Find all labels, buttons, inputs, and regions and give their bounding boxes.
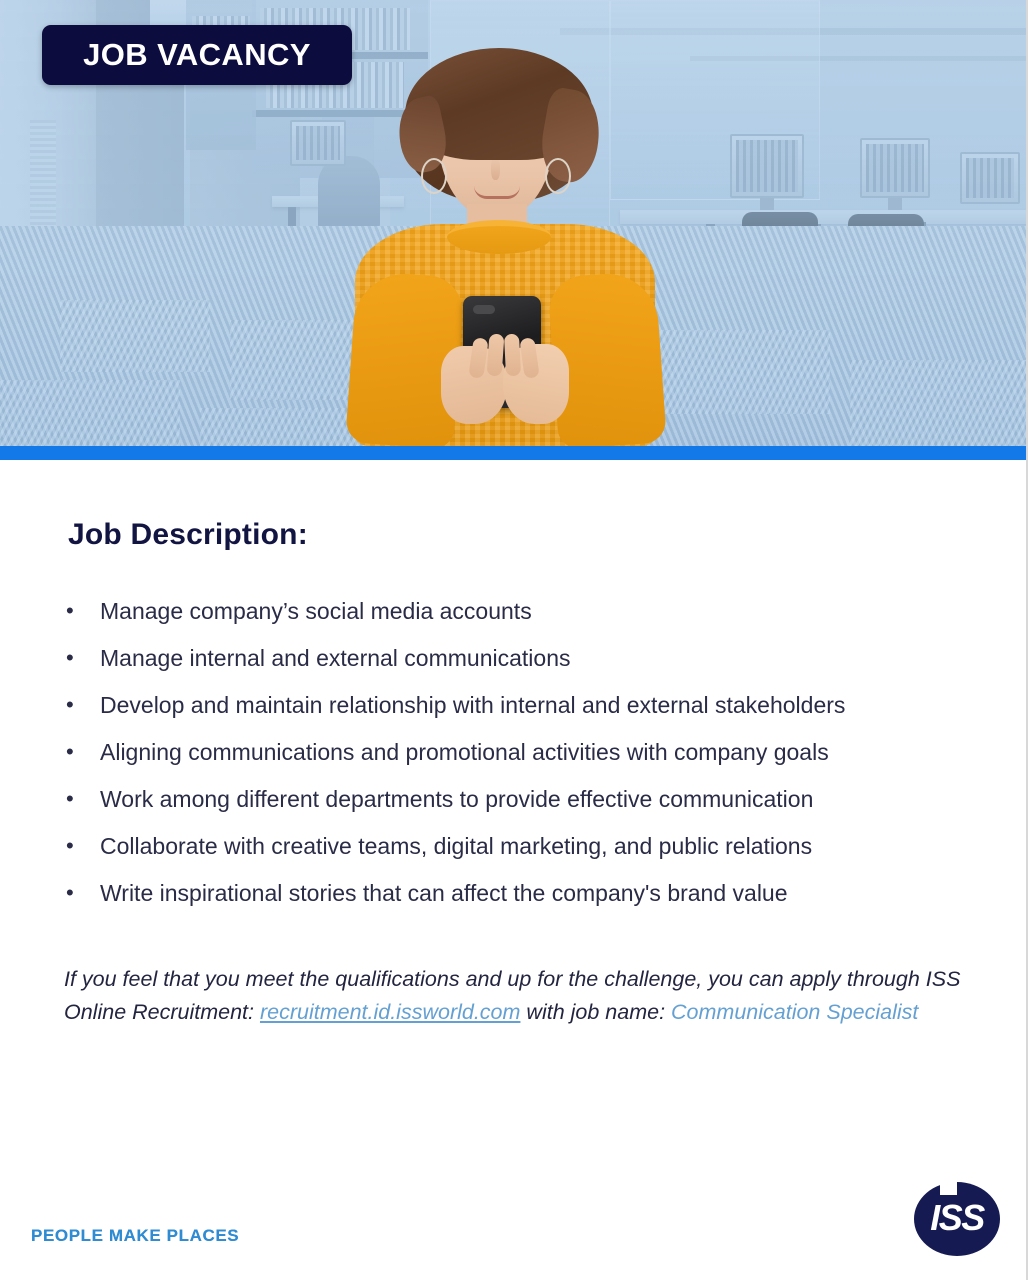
job-description-bullet: •Manage company’s social media accounts — [64, 596, 964, 627]
bullet-text: Aligning communications and promotional … — [100, 737, 964, 768]
iss-logo: ISS — [914, 1182, 1000, 1256]
job-vacancy-badge: JOB VACANCY — [42, 25, 352, 85]
bullet-point-icon: • — [64, 784, 100, 814]
bullet-text: Collaborate with creative teams, digital… — [100, 831, 964, 862]
job-vacancy-badge-label: JOB VACANCY — [83, 37, 311, 73]
job-description-list: •Manage company’s social media accounts•… — [64, 596, 964, 909]
hero-banner: JOB VACANCY — [0, 0, 1028, 446]
bullet-text: Work among different departments to prov… — [100, 784, 964, 815]
nose — [491, 158, 500, 180]
iss-logo-text: ISS — [914, 1182, 1000, 1256]
footer: PEOPLE MAKE PLACES ISS — [0, 1172, 1028, 1280]
phone-camera — [473, 305, 495, 314]
recruitment-site-link[interactable]: recruitment.id.issworld.com — [260, 1000, 520, 1024]
job-description-bullet: •Collaborate with creative teams, digita… — [64, 831, 964, 862]
finger — [504, 334, 521, 377]
application-instructions: If you feel that you meet the qualificat… — [64, 963, 964, 1029]
bullet-point-icon: • — [64, 737, 100, 767]
bullet-text: Manage internal and external communicati… — [100, 643, 964, 674]
hoop-earring-left — [421, 158, 447, 194]
blue-divider-band — [0, 446, 1028, 460]
job-description-bullet: •Develop and maintain relationship with … — [64, 690, 964, 721]
company-tagline: PEOPLE MAKE PLACES — [31, 1226, 239, 1246]
woman-figure — [355, 46, 655, 446]
sweater-collar — [447, 220, 551, 254]
bullet-text: Develop and maintain relationship with i… — [100, 690, 964, 721]
smiling-mouth — [474, 186, 520, 199]
finger — [487, 334, 505, 377]
bullet-text: Manage company’s social media accounts — [100, 596, 964, 627]
job-description-bullet: •Work among different departments to pro… — [64, 784, 964, 815]
job-vacancy-poster: JOB VACANCY Job Description: •Manage com… — [0, 0, 1028, 1280]
bullet-point-icon: • — [64, 643, 100, 673]
bullet-point-icon: • — [64, 690, 100, 720]
job-description-bullet: •Aligning communications and promotional… — [64, 737, 964, 768]
bullet-point-icon: • — [64, 596, 100, 626]
job-description-bullet: •Write inspirational stories that can af… — [64, 878, 964, 909]
content-area: Job Description: •Manage company’s socia… — [0, 460, 1028, 1029]
job-description-bullet: •Manage internal and external communicat… — [64, 643, 964, 674]
job-name-value: Communication Specialist — [671, 1000, 918, 1024]
bullet-text: Write inspirational stories that can aff… — [100, 878, 964, 909]
bullet-point-icon: • — [64, 831, 100, 861]
apply-note-part-2: with job name: — [520, 1000, 671, 1024]
bullet-point-icon: • — [64, 878, 100, 908]
job-description-heading: Job Description: — [68, 518, 964, 552]
hoop-earring-right — [545, 158, 571, 194]
